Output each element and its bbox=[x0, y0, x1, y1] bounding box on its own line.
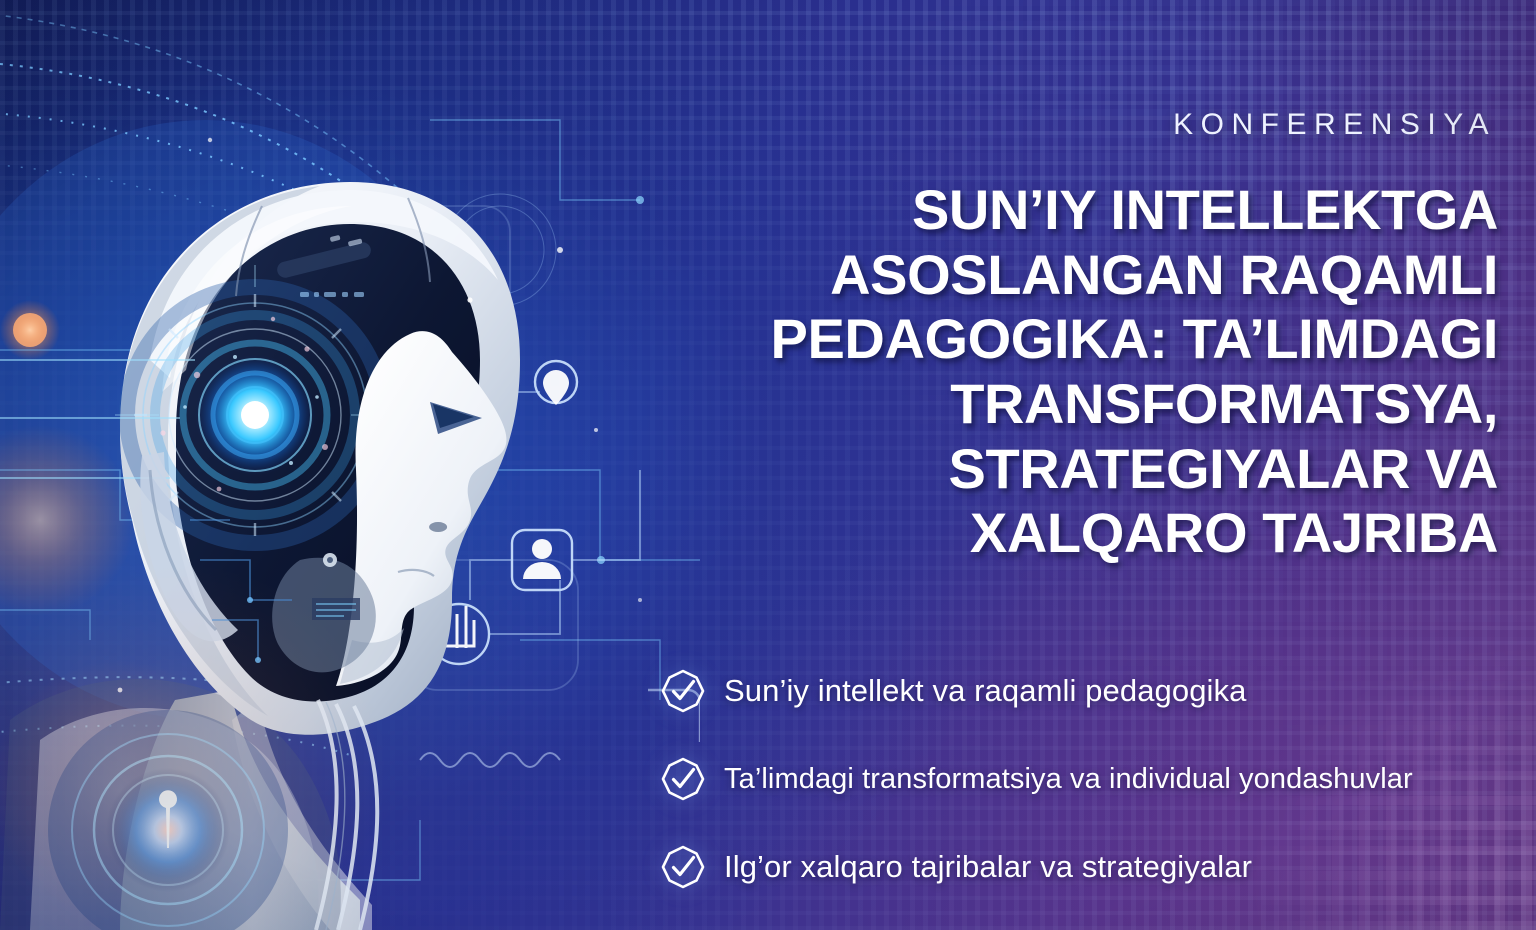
headline-line-4: TRANSFORMATSYA, bbox=[668, 372, 1498, 437]
headline-line-1: SUN’IY INTELLEKTGA bbox=[668, 178, 1498, 243]
headline-line-3: PEDAGOGIKA: TA’LIMDAGI bbox=[668, 307, 1498, 372]
list-item-label: Ilg’or xalqaro tajribalar va strategiyal… bbox=[724, 849, 1252, 885]
list-item: Sun’iy intellekt va raqamli pedagogika bbox=[660, 668, 1520, 714]
list-item-label: Sun’iy intellekt va raqamli pedagogika bbox=[724, 673, 1247, 709]
list-item-label: Ta’limdagi transformatsiya va individual… bbox=[724, 763, 1413, 796]
kicker-label: KONFERENSIYA bbox=[1173, 108, 1496, 142]
list-item: Ta’limdagi transformatsiya va individual… bbox=[660, 756, 1520, 802]
ai-robot-artwork bbox=[0, 0, 700, 930]
page-title: SUN’IY INTELLEKTGA ASOSLANGAN RAQAMLI PE… bbox=[668, 178, 1498, 566]
headline-line-5: STRATEGIYALAR VA bbox=[668, 437, 1498, 502]
conference-poster: KONFERENSIYA SUN’IY INTELLEKTGA ASOSLANG… bbox=[0, 0, 1536, 930]
check-circle-icon bbox=[660, 668, 706, 714]
poster-content: KONFERENSIYA SUN’IY INTELLEKTGA ASOSLANG… bbox=[640, 0, 1536, 930]
check-circle-icon bbox=[660, 844, 706, 890]
topic-list: Sun’iy intellekt va raqamli pedagogika T… bbox=[660, 668, 1520, 890]
check-circle-icon bbox=[660, 756, 706, 802]
headline-line-2: ASOSLANGAN RAQAMLI bbox=[668, 243, 1498, 308]
list-item: Ilg’or xalqaro tajribalar va strategiyal… bbox=[660, 844, 1520, 890]
headline-line-6: XALQARO TAJRIBA bbox=[668, 501, 1498, 566]
